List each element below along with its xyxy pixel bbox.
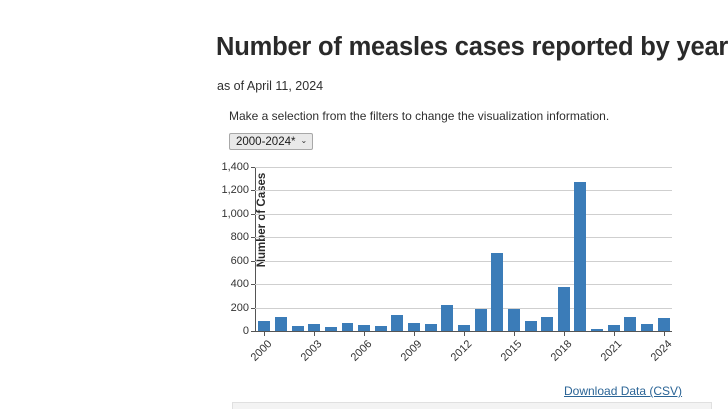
bar-2000[interactable]: [258, 321, 270, 331]
x-tick-mark: [614, 331, 615, 336]
x-tick-label: 2018: [546, 338, 574, 366]
y-tick-label: 1,000: [221, 208, 249, 220]
x-tick-mark: [364, 331, 365, 336]
x-tick-label: 2012: [446, 338, 474, 366]
x-tick-mark: [514, 331, 515, 336]
x-tick-mark: [664, 331, 665, 336]
y-tick-label: 0: [243, 325, 249, 337]
y-tick-label: 200: [231, 302, 249, 314]
x-tick-label: 2009: [396, 338, 424, 366]
bar-2022[interactable]: [624, 317, 636, 331]
bar-2001[interactable]: [275, 317, 287, 331]
y-tick-label: 1,400: [221, 161, 249, 173]
bar-2019[interactable]: [574, 182, 586, 331]
bar-2014[interactable]: [491, 253, 503, 331]
bar-2010[interactable]: [425, 324, 437, 331]
y-tick-mark: [251, 214, 255, 215]
bar-2020[interactable]: [591, 329, 603, 331]
y-tick-mark: [251, 308, 255, 309]
y-tick-label: 400: [231, 278, 249, 290]
x-tick-label: 2006: [346, 338, 374, 366]
y-tick-mark: [251, 284, 255, 285]
bar-2008[interactable]: [391, 315, 403, 331]
bar-2023[interactable]: [641, 324, 653, 331]
y-tick-label: 600: [231, 255, 249, 267]
x-tick-label: 2000: [247, 338, 275, 366]
y-tick-mark: [251, 167, 255, 168]
bar-2009[interactable]: [408, 323, 420, 331]
x-tick-mark: [314, 331, 315, 336]
x-tick-mark: [564, 331, 565, 336]
x-tick-label: 2024: [646, 338, 674, 366]
y-tick-label: 800: [231, 231, 249, 243]
page-title: Number of measles cases reported by year: [216, 33, 728, 62]
y-tick-mark: [251, 190, 255, 191]
y-tick-mark: [251, 261, 255, 262]
filter-instruction-text: Make a selection from the filters to cha…: [229, 109, 609, 123]
year-range-select[interactable]: 2000-2024* ⌄: [229, 133, 313, 150]
x-tick-mark: [464, 331, 465, 336]
x-tick-label: 2015: [496, 338, 524, 366]
bottom-panel: [232, 402, 712, 409]
download-csv-link[interactable]: Download Data (CSV): [564, 384, 682, 398]
plot-area: 02004006008001,0001,2001,400 20002003200…: [255, 167, 672, 331]
measles-cases-bar-chart: Number of Cases 02004006008001,0001,2001…: [216, 158, 728, 370]
bar-2017[interactable]: [541, 317, 553, 331]
page-root: Number of measles cases reported by year…: [0, 0, 728, 409]
bar-2013[interactable]: [475, 309, 487, 331]
bar-2002[interactable]: [292, 326, 304, 331]
bar-2016[interactable]: [525, 321, 537, 331]
x-tick-mark: [414, 331, 415, 336]
bar-2004[interactable]: [325, 327, 337, 331]
y-tick-mark: [251, 237, 255, 238]
bar-2024[interactable]: [658, 318, 670, 331]
page-subtitle: as of April 11, 2024: [217, 79, 323, 93]
x-tick-label: 2021: [596, 338, 624, 366]
bar-2005[interactable]: [342, 323, 354, 331]
bar-2007[interactable]: [375, 326, 387, 331]
chevron-down-icon: ⌄: [300, 137, 307, 145]
x-tick-mark: [264, 331, 265, 336]
year-range-select-value: 2000-2024*: [236, 136, 295, 148]
y-tick-label: 1,200: [221, 184, 249, 196]
bars-group: [256, 167, 672, 331]
bar-2018[interactable]: [558, 287, 570, 331]
bar-2011[interactable]: [441, 305, 453, 331]
bar-2015[interactable]: [508, 309, 520, 331]
y-tick-mark: [251, 331, 255, 332]
content-column: Number of measles cases reported by year…: [216, 0, 728, 409]
x-tick-label: 2003: [296, 338, 324, 366]
